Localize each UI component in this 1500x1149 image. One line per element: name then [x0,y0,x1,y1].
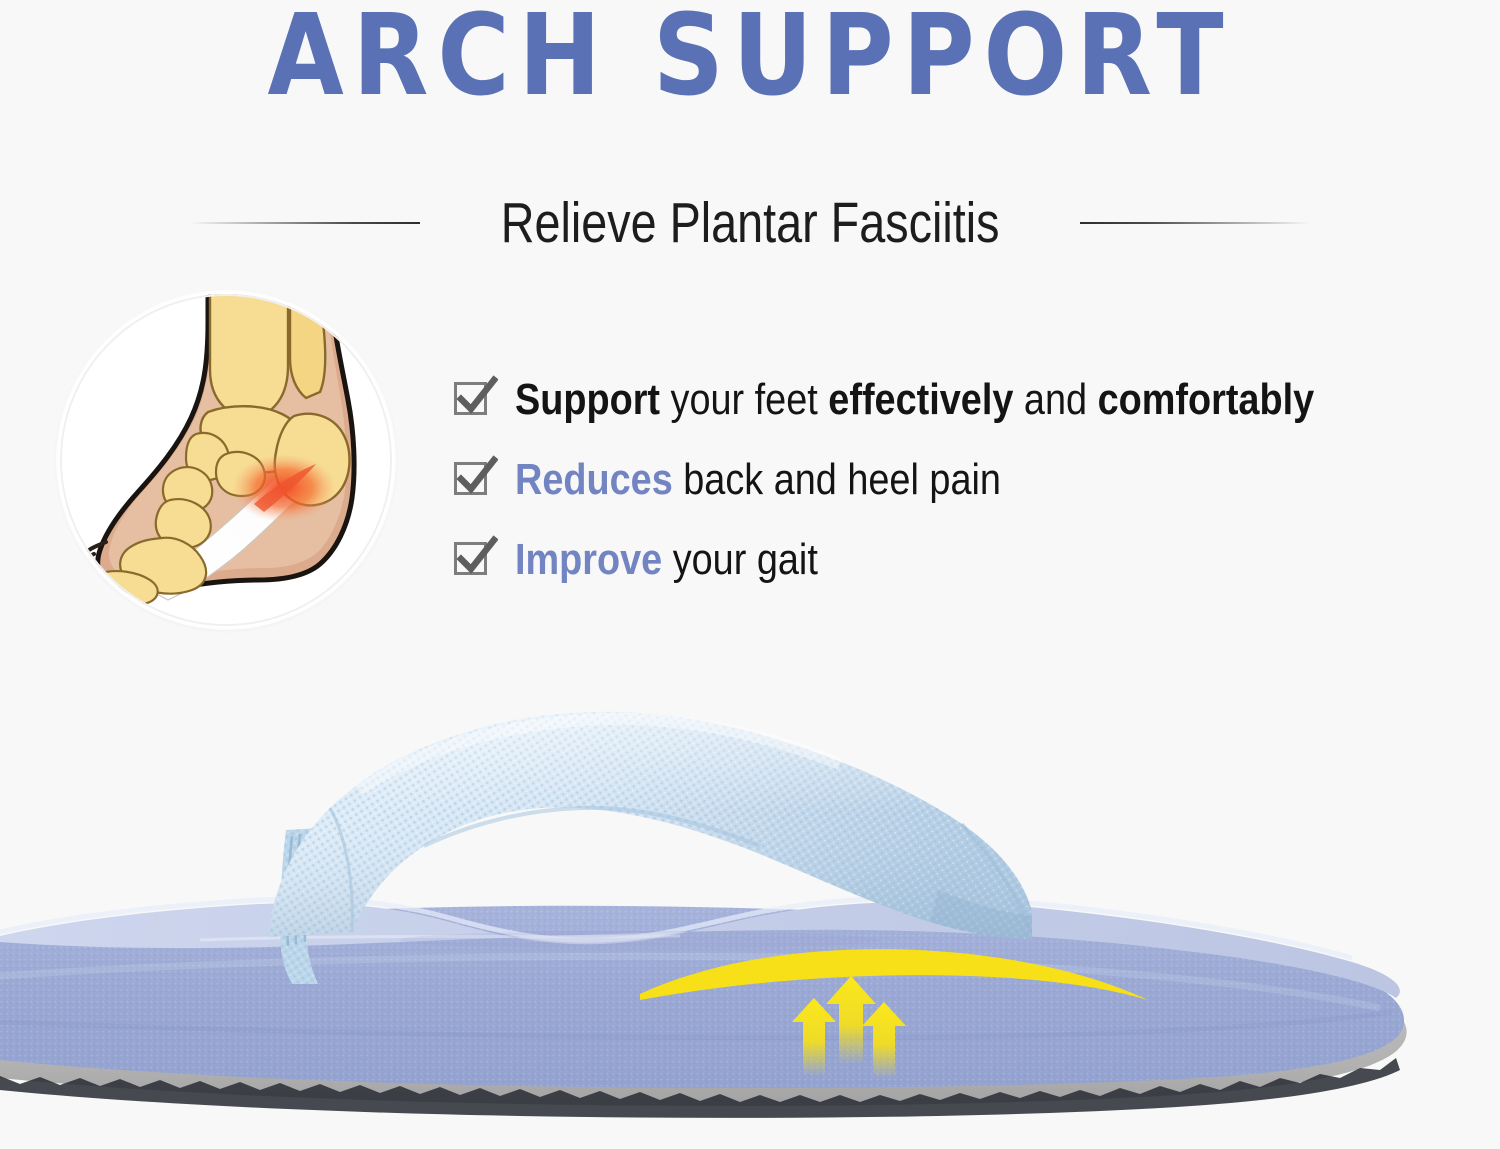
product-image-sandal [0,640,1500,1149]
strap-cast-shadow [400,931,880,949]
fibula-bone [290,292,325,398]
tibia-bone [210,292,288,412]
phalanx-bone-2 [74,582,111,605]
list-item: Improve your gait [452,520,1472,600]
page-title: ARCH SUPPORT [90,0,1410,118]
product-feature-image: ARCH SUPPORT Relieve Plantar Fasciitis [0,0,1500,1149]
benefit-segment: back and heel pain [673,455,1001,504]
benefit-list: Support your feet effectively and comfor… [452,360,1472,600]
benefit-segment: and [1013,375,1097,424]
divider-line-right [1080,222,1310,224]
page-subtitle: Relieve Plantar Fasciitis [501,192,1000,254]
benefit-segment-bold: effectively [828,375,1013,424]
benefit-segment: your feet [660,375,828,424]
foot-anatomy-svg [58,292,394,628]
checkbox-checked-icon [452,375,498,421]
benefit-text: Support your feet effectively and comfor… [515,375,1314,425]
foot-anatomy-illustration [58,292,394,628]
benefit-segment-accent: Reduces [515,455,673,504]
list-item: Reduces back and heel pain [452,440,1472,520]
sandal-svg [0,640,1500,1149]
benefit-segment-accent: Improve [515,535,662,584]
benefit-text: Reduces back and heel pain [515,455,1001,505]
benefit-segment-bold: comfortably [1098,375,1315,424]
subtitle-row: Relieve Plantar Fasciitis [0,178,1500,268]
benefit-segment: your gait [662,535,818,584]
benefit-segment-bold: Support [515,375,660,424]
divider-line-left [190,222,420,224]
checkbox-checked-icon [452,535,498,581]
list-item: Support your feet effectively and comfor… [452,360,1472,440]
benefit-text: Improve your gait [515,535,818,585]
checkbox-checked-icon [452,455,498,501]
